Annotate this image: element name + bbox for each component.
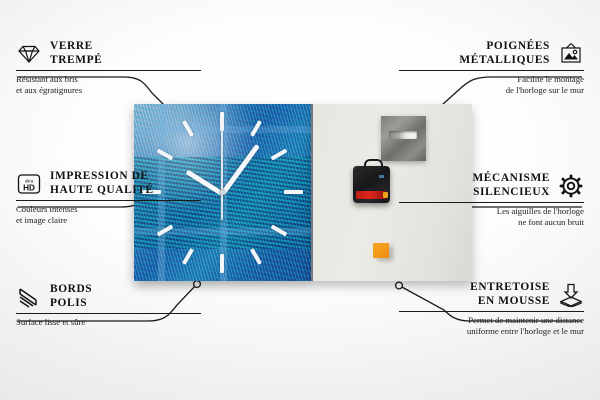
hanging-picture-frame-icon <box>558 41 584 67</box>
callout-divider <box>399 202 584 203</box>
callout-title-line-1: ENTRETOISE <box>470 281 550 295</box>
callout-title-line-2: MÉTALLIQUES <box>459 54 550 68</box>
callout-title-line-1: IMPRESSION DE <box>50 170 154 184</box>
clock-center-pin <box>220 190 225 195</box>
battery <box>356 191 386 199</box>
callout-title-line-2: POLIS <box>50 297 92 311</box>
polished-edges-icon <box>16 284 42 310</box>
callout-entretoise-en-mousse: ENTRETOISE EN MOUSSE Permet de maintenir… <box>399 281 584 336</box>
mechanism-hook <box>364 159 383 170</box>
callout-bords-polis: BORDS POLIS Surface lisse et sûre <box>16 283 201 328</box>
callout-subtitle-line-1: Couleurs intenses <box>16 204 201 215</box>
callout-mecanisme-silencieux: MÉCANISME SILENCIEUX Les aiguilles de l'… <box>399 172 584 227</box>
callout-subtitle-line-2: de l'horloge sur le mur <box>399 85 584 96</box>
foam-spacer <box>373 243 389 258</box>
infographic-canvas: VERRE TREMPÉ Résistant aux bris et aux é… <box>0 0 600 400</box>
hour-mark <box>250 248 262 265</box>
callout-impression-haute-qualite: ultra HD IMPRESSION DE HAUTE QUALITÉ Cou… <box>16 170 201 225</box>
diamond-icon <box>16 41 42 67</box>
callout-divider <box>16 200 201 201</box>
arrow-press-pad-icon <box>558 282 584 308</box>
callout-subtitle-line-1: Facilite le montage <box>399 74 584 85</box>
callout-title-line-2: SILENCIEUX <box>472 186 550 200</box>
second-hand <box>221 130 223 220</box>
callout-divider <box>16 313 201 314</box>
callout-subtitle-line-1: Les aiguilles de l'horloge <box>399 206 584 217</box>
callout-subtitle-line-1: Résistant aux bris <box>16 74 201 85</box>
callout-subtitle-line-2: et aux égratignures <box>16 85 201 96</box>
hanger-slot <box>389 131 417 139</box>
panel-edge <box>311 104 313 281</box>
callout-verre-trempe: VERRE TREMPÉ Résistant aux bris et aux é… <box>16 40 201 95</box>
callout-title-line-1: POIGNÉES <box>459 40 550 54</box>
callout-poignees-metalliques: POIGNÉES MÉTALLIQUES Facilite le montage… <box>399 40 584 95</box>
callout-subtitle-line-2: uniforme entre l'horloge et le mur <box>399 326 584 337</box>
callout-title-line-1: MÉCANISME <box>472 172 550 186</box>
mechanism-label <box>379 175 384 178</box>
metal-hanger <box>381 116 426 161</box>
callout-subtitle-line-2: ne font aucun bruit <box>399 217 584 228</box>
callout-title-line-1: BORDS <box>50 283 92 297</box>
callout-title-line-2: EN MOUSSE <box>470 295 550 309</box>
ultra-hd-icon: ultra HD <box>16 171 42 197</box>
callout-subtitle-line-2: et image claire <box>16 215 201 226</box>
hour-mark <box>220 254 224 273</box>
callout-title-line-2: HAUTE QUALITÉ <box>50 184 154 198</box>
hour-mark <box>284 190 303 194</box>
hour-mark <box>220 112 224 131</box>
gear-icon <box>558 173 584 199</box>
callout-divider <box>399 311 584 312</box>
callout-subtitle-line-1: Permet de maintenir une distance <box>399 315 584 326</box>
callout-subtitle-line-1: Surface lisse et sûre <box>16 317 201 328</box>
hour-mark <box>182 248 194 265</box>
callout-title-line-1: VERRE <box>50 40 102 54</box>
callout-title-line-2: TREMPÉ <box>50 54 102 68</box>
ultra-hd-icon-bottom-text: HD <box>23 183 35 192</box>
battery-terminal <box>383 192 388 198</box>
quartz-mechanism <box>353 166 390 203</box>
callout-divider <box>16 70 201 71</box>
callout-divider <box>399 70 584 71</box>
